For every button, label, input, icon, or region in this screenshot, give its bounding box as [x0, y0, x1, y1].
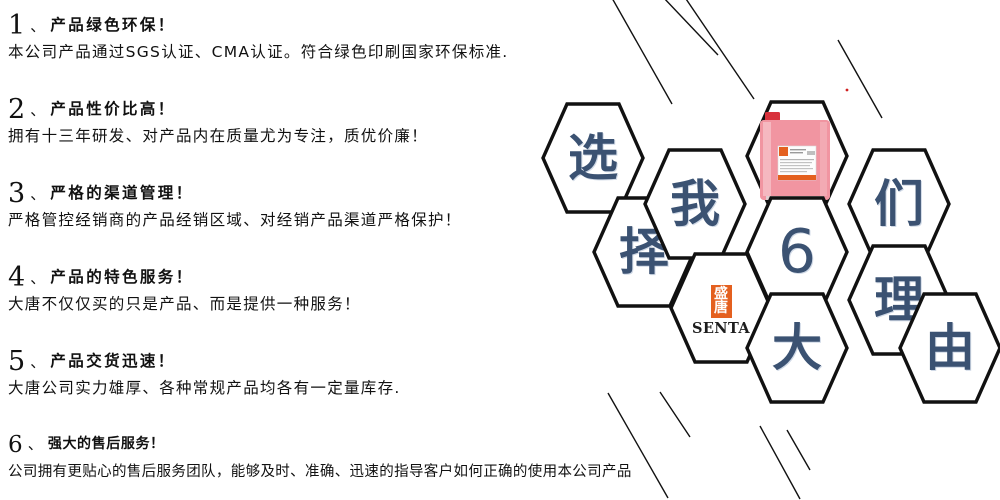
- reason-title: 产品性价比高！: [50, 100, 175, 118]
- reason-description: 本公司产品通过SGS认证、CMA认证。符合绿色印刷国家环保标准.: [8, 44, 509, 62]
- reason-separator: 、: [30, 353, 45, 371]
- reason-number: 6: [8, 432, 23, 458]
- reason-separator: 、: [30, 269, 45, 287]
- reason-number: 1: [8, 10, 25, 41]
- reason-title: 产品绿色环保！: [50, 16, 175, 34]
- reasons-list: 1 、 产品绿色环保！ 本公司产品通过SGS认证、CMA认证。符合绿色印刷国家环…: [0, 0, 1000, 500]
- reason-title: 产品交货迅速！: [50, 352, 175, 370]
- reason-heading: 5 、 产品交货迅速！: [8, 348, 401, 375]
- reason-number: 2: [8, 94, 25, 125]
- reason-heading: 4 、 产品的特色服务！: [8, 264, 361, 291]
- reason-item: 6 、 强大的售后服务！ 公司拥有更贴心的售后服务团队，能够及时、准确、迅速的指…: [8, 434, 632, 481]
- reason-heading: 3 、 严格的渠道管理！: [8, 180, 462, 207]
- reason-heading: 6 、 强大的售后服务！: [8, 434, 632, 457]
- reason-number: 5: [8, 346, 25, 377]
- reason-item: 3 、 严格的渠道管理！ 严格管控经销商的产品经销区域、对经销产品渠道严格保护！: [8, 180, 462, 230]
- reason-number: 3: [8, 178, 25, 209]
- reason-heading: 2 、 产品性价比高！: [8, 96, 428, 123]
- reason-description: 严格管控经销商的产品经销区域、对经销产品渠道严格保护！: [8, 212, 462, 230]
- reason-item: 5 、 产品交货迅速！ 大唐公司实力雄厚、各种常规产品均各有一定量库存.: [8, 348, 401, 398]
- reason-title: 强大的售后服务！: [48, 436, 165, 452]
- reason-description: 公司拥有更贴心的售后服务团队，能够及时、准确、迅速的指导客户如何正确的使用本公司…: [8, 464, 632, 481]
- reason-description: 大唐公司实力雄厚、各种常规产品均各有一定量库存.: [8, 380, 401, 398]
- reason-description: 拥有十三年研发、对产品内在质量尤为专注，质优价廉！: [8, 128, 428, 146]
- reason-separator: 、: [30, 17, 45, 35]
- reason-item: 2 、 产品性价比高！ 拥有十三年研发、对产品内在质量尤为专注，质优价廉！: [8, 96, 428, 146]
- reason-number: 4: [8, 262, 25, 293]
- reason-item: 1 、 产品绿色环保！ 本公司产品通过SGS认证、CMA认证。符合绿色印刷国家环…: [8, 12, 509, 62]
- reason-item: 4 、 产品的特色服务！ 大唐不仅仅买的只是产品、而是提供一种服务！: [8, 264, 361, 314]
- reason-title: 严格的渠道管理！: [50, 184, 193, 202]
- reason-separator: 、: [28, 435, 43, 453]
- reason-title: 产品的特色服务！: [50, 268, 193, 286]
- reason-separator: 、: [30, 185, 45, 203]
- reason-description: 大唐不仅仅买的只是产品、而是提供一种服务！: [8, 296, 361, 314]
- reason-separator: 、: [30, 101, 45, 119]
- reason-heading: 1 、 产品绿色环保！: [8, 12, 509, 39]
